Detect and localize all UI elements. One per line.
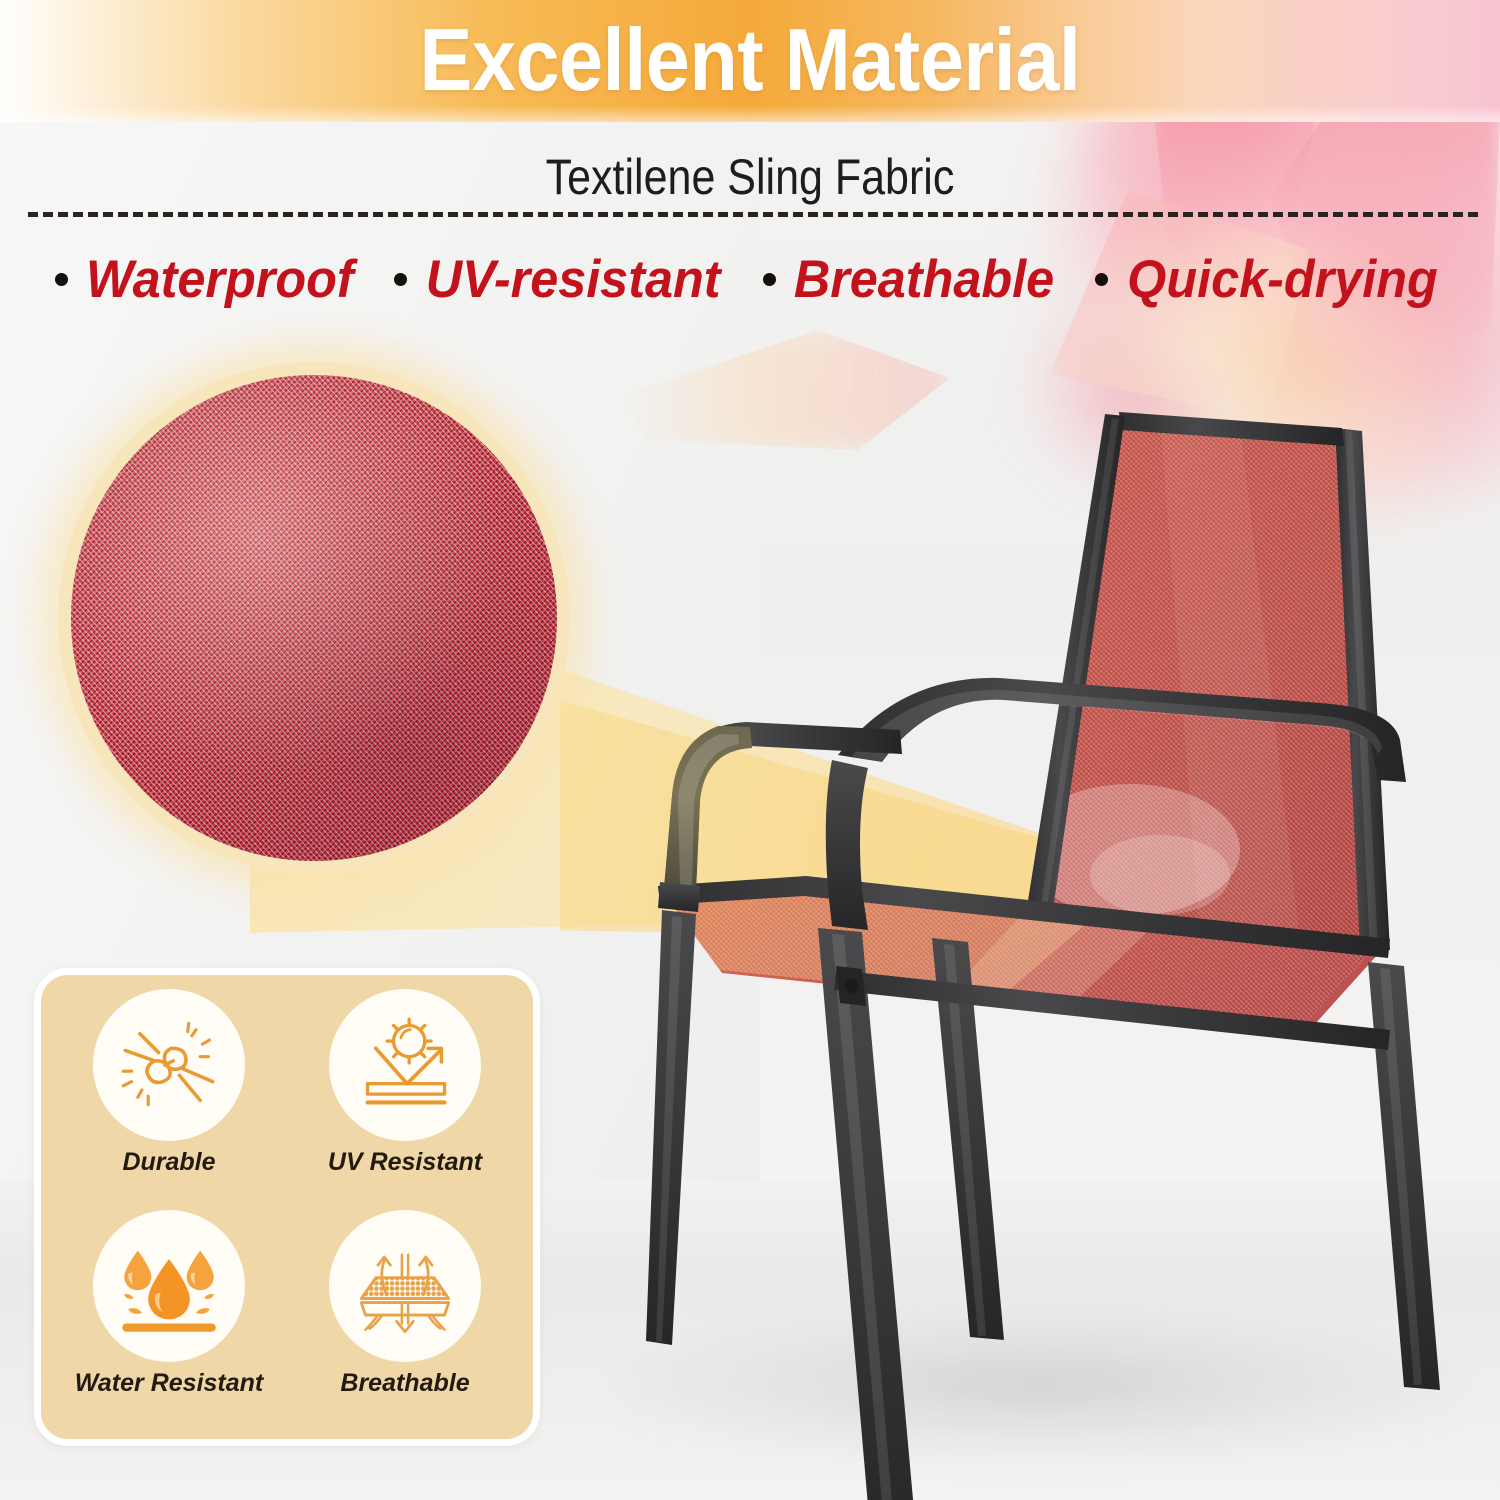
page-subtitle: Textilene Sling Fabric (105, 148, 1395, 206)
highlight-label: Waterproof (86, 250, 354, 310)
feature-icon-bubble (93, 989, 245, 1141)
highlight-label: Breathable (793, 250, 1053, 310)
feature-cell-durable: Durable (51, 989, 287, 1210)
feature-label: Durable (122, 1147, 215, 1177)
highlight-item-waterproof: Waterproof (55, 250, 361, 310)
airflow-fabric-icon (353, 1234, 457, 1338)
highlight-item-breathable: Breathable (763, 250, 1061, 310)
feature-label: UV Resistant (328, 1147, 482, 1177)
feature-cell-breathable: Breathable (287, 1210, 523, 1431)
product-feature-graphic: Excellent Material Textilene Sling Fabri… (0, 0, 1500, 1500)
outdoor-sling-dining-chair (600, 330, 1500, 1500)
feature-grid: Durable (41, 975, 533, 1439)
chain-link-icon (117, 1013, 221, 1117)
bullet-dot-icon (394, 273, 407, 286)
feature-cell-water-resistant: Water Resistant (51, 1210, 287, 1431)
bullet-dot-icon (1095, 273, 1108, 286)
feature-label: Breathable (340, 1368, 469, 1398)
feature-icon-bubble (329, 989, 481, 1141)
page-title: Excellent Material (75, 8, 1425, 112)
highlight-label: Quick-drying (1127, 250, 1438, 310)
feature-cell-uv-resistant: UV Resistant (287, 989, 523, 1210)
highlight-item-uv-resistant: UV-resistant (394, 250, 728, 310)
feature-badge-panel: Durable (34, 968, 540, 1446)
feature-icon-bubble (93, 1210, 245, 1362)
feature-icon-bubble (329, 1210, 481, 1362)
feature-label: Water Resistant (75, 1368, 264, 1398)
bullet-dot-icon (763, 273, 776, 286)
bullet-dot-icon (55, 273, 68, 286)
highlight-label: UV-resistant (426, 250, 721, 310)
highlight-item-quick-drying: Quick-drying (1095, 250, 1446, 310)
sun-reflect-icon (353, 1013, 457, 1117)
water-droplets-icon (117, 1234, 221, 1338)
highlight-list: Waterproof UV-resistant Breathable Quick… (0, 250, 1500, 310)
swatch-weave (71, 375, 557, 861)
dashed-divider (28, 212, 1478, 217)
textilene-fabric-swatch (58, 362, 570, 874)
